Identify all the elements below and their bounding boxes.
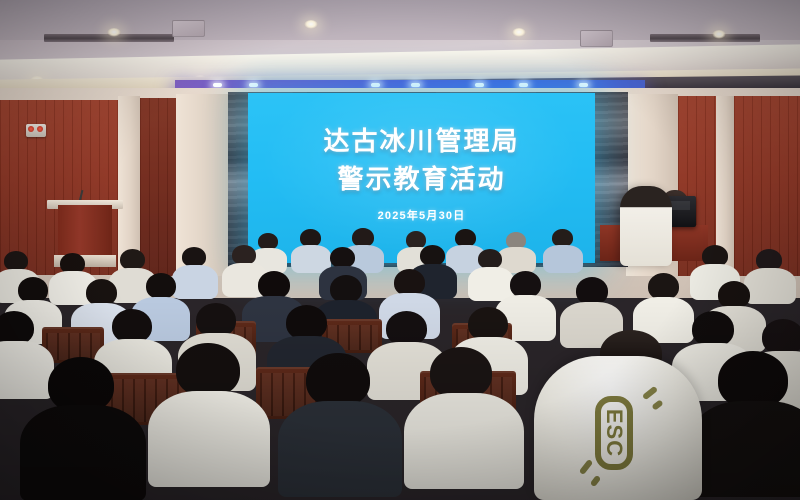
ceiling-access-panel [172,20,205,37]
attendee-head [182,247,206,267]
attendee-head [232,245,256,265]
attendee-body [0,341,54,399]
esc-logo-accent [651,399,663,411]
attendee-head [386,311,427,346]
screen-title-line2: 警示教育活动 [248,159,595,196]
attendee-head [176,343,240,397]
ceiling-access-panel [580,30,613,47]
attendee-head [286,305,327,340]
attendee-head [120,249,145,270]
attendee-head [4,251,28,271]
attendee-body [690,401,800,497]
emergency-light-fixture [26,124,46,137]
attendee-head [478,249,502,269]
ceiling-air-vent [650,34,760,42]
attendee-head [330,275,362,303]
attendee-head [468,307,508,341]
esc-logo-accent [579,459,594,475]
meeting-hall-photo: 达古冰川管理局 警示教育活动 2025年5月30日 [0,0,800,500]
screen-title-line1: 达古冰川管理局 [248,121,595,158]
attendee-head [762,319,800,355]
attendee-head [420,245,445,266]
attendee-head [196,303,236,337]
attendee-head [510,271,541,298]
attendee-body [172,265,218,299]
attendee-head [718,281,750,309]
attendee-body [468,267,514,301]
esc-logo-badge: ESC [595,396,633,470]
attendee-head [112,309,152,343]
attendee-body [148,391,270,487]
attendee-head [394,269,425,296]
ceiling-downlight [712,30,726,39]
attendee-head [576,277,608,305]
attendee-head [146,273,176,299]
attendee-head [330,247,355,268]
attendee-head [258,271,290,299]
ceiling-downlight [107,28,121,37]
esc-logo-accent [590,475,602,487]
esc-logo-accent [642,386,658,401]
attendee-body [278,401,402,497]
foreground-attendee-shirt: ESC [534,356,702,500]
attendee-head [306,353,370,407]
attendee-head [692,311,734,347]
ceiling-downlight [304,20,318,29]
ceiling-downlight [512,28,526,37]
attendee-head [86,279,117,306]
attendee-head [648,273,679,300]
attendee-head [0,311,34,345]
attendee-body [744,268,796,304]
attendee-body [20,405,146,500]
attendee-body [543,245,583,273]
attendee-body [404,393,524,489]
esc-logo-text: ESC [601,409,627,457]
attendee-head [430,347,492,399]
